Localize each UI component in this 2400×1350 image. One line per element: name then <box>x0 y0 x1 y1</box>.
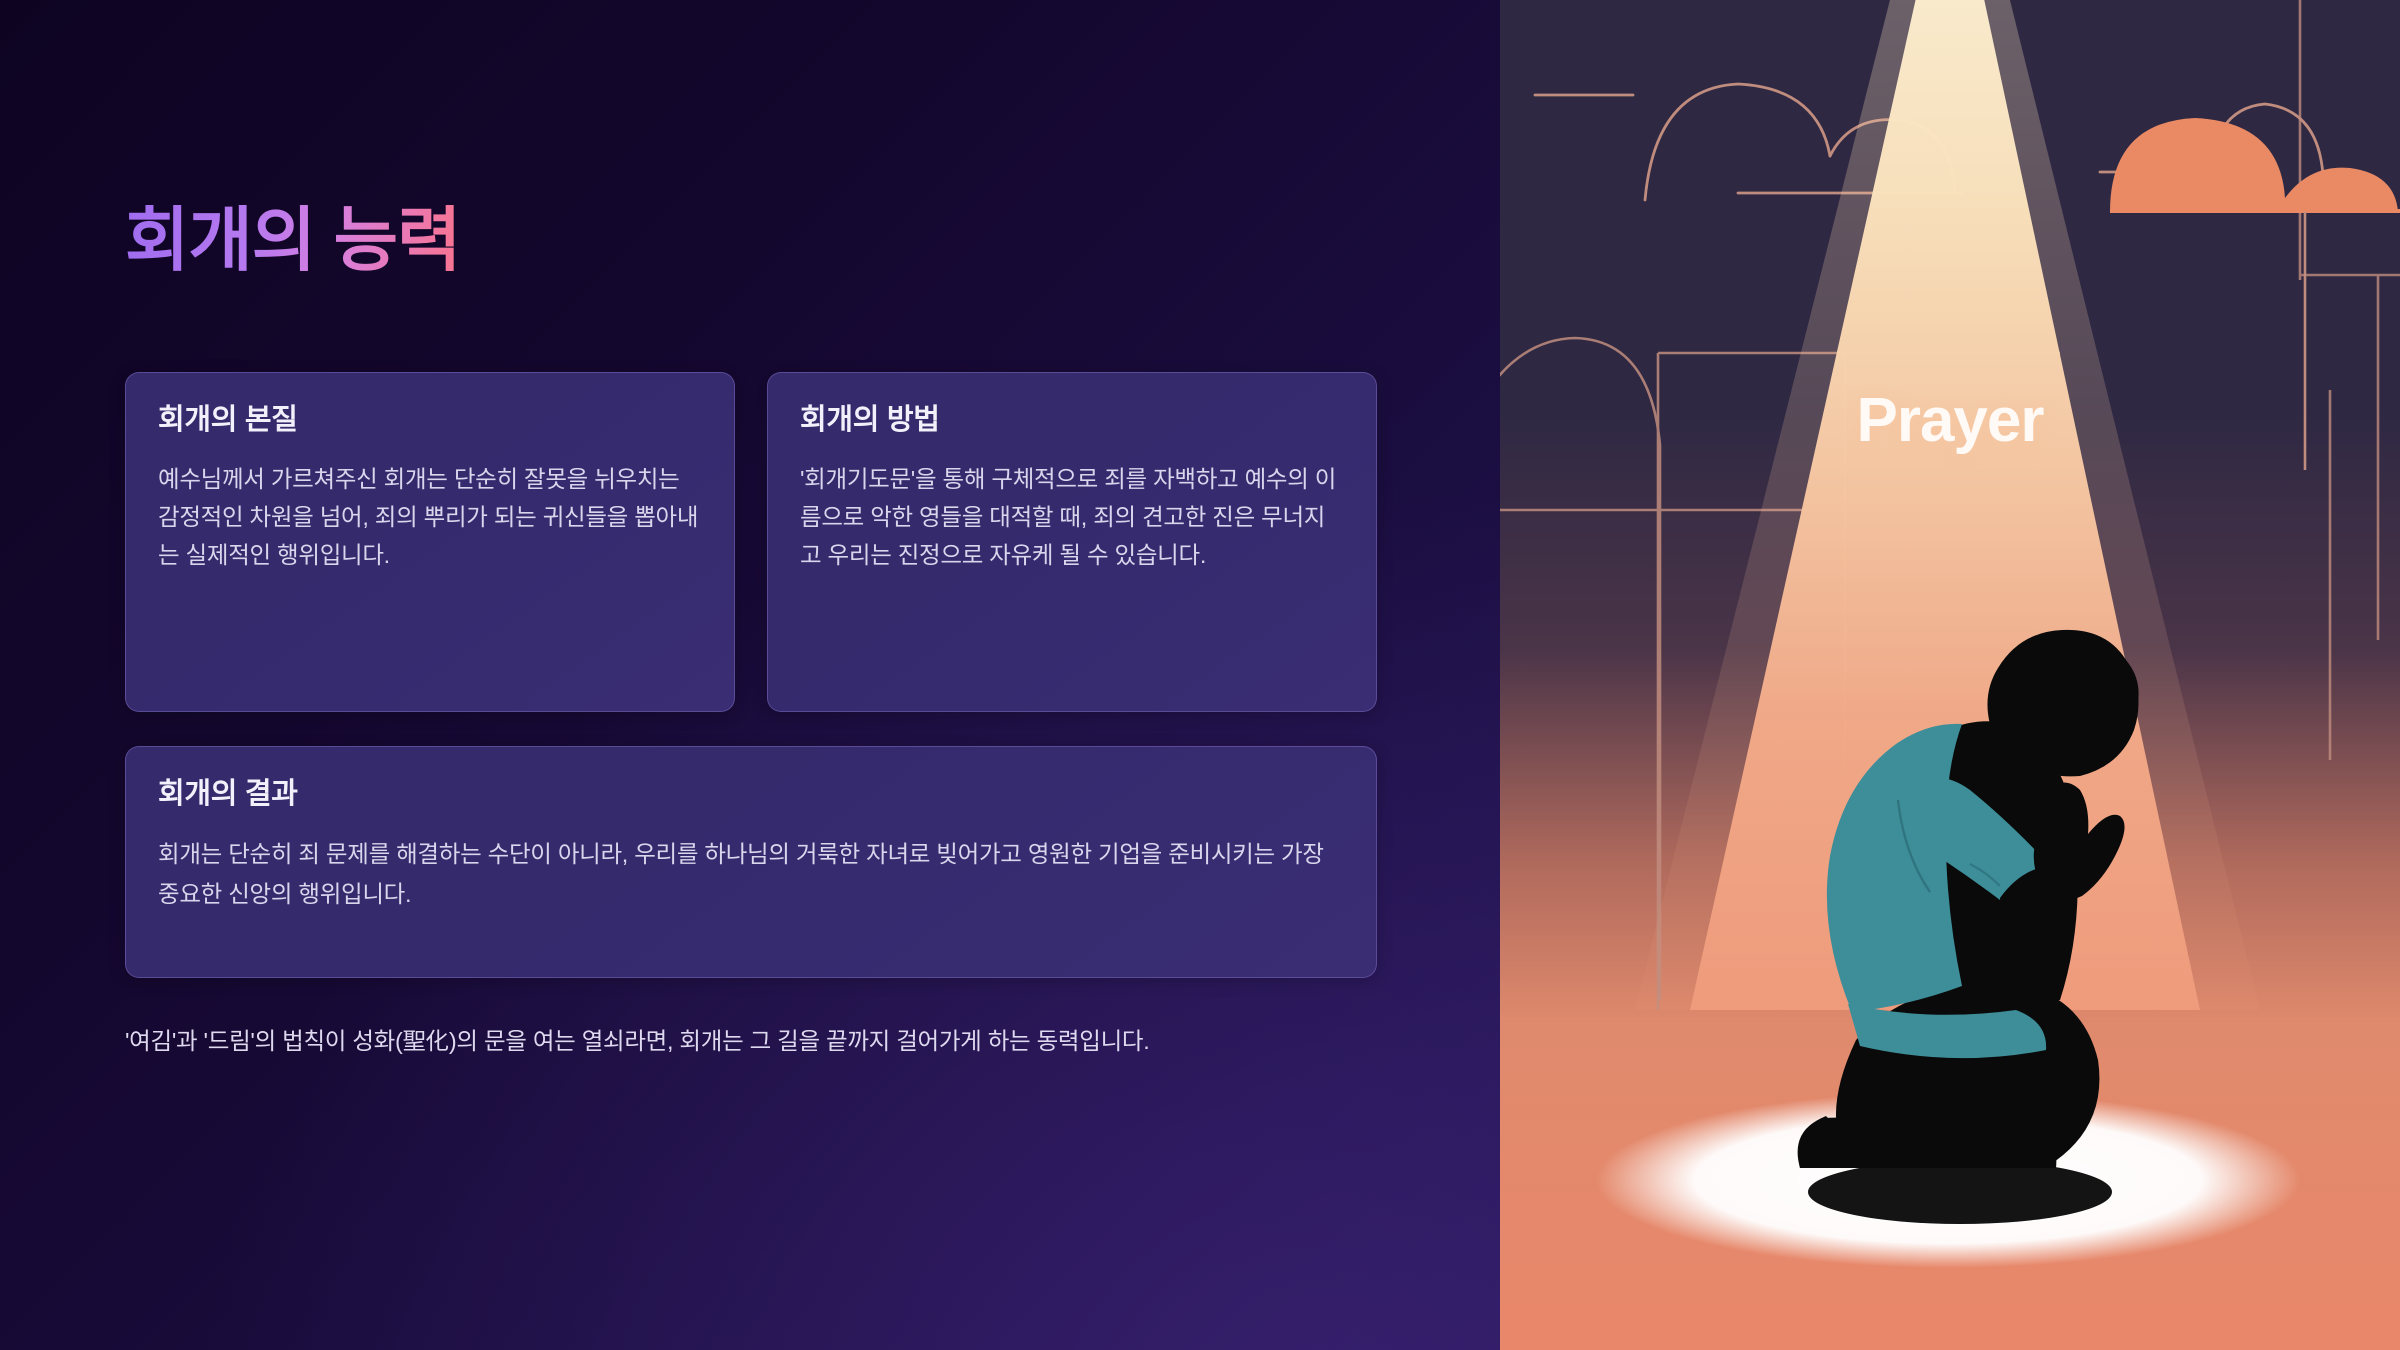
architecture-lines-right-icon <box>2300 0 2400 760</box>
prayer-illustration-panel: Prayer <box>1500 0 2400 1350</box>
card-body: 예수님께서 가르쳐주신 회개는 단순히 잘못을 뉘우치는 감정적인 차원을 넘어… <box>158 460 702 574</box>
footer-note: '여김'과 '드림'의 법칙이 성화(聖化)의 문을 여는 열쇠라면, 회개는 … <box>125 1022 1375 1060</box>
cloud-solid-right-icon <box>2110 118 2400 213</box>
content-inner: 회개의 능력 회개의 본질 예수님께서 가르쳐주신 회개는 단순히 잘못을 뉘우… <box>125 0 1380 1350</box>
card-body: '회개기도문'을 통해 구체적으로 죄를 자백하고 예수의 이름으로 악한 영들… <box>800 460 1344 574</box>
content-panel: 회개의 능력 회개의 본질 예수님께서 가르쳐주신 회개는 단순히 잘못을 뉘우… <box>0 0 1500 1350</box>
card-repentance-essence: 회개의 본질 예수님께서 가르쳐주신 회개는 단순히 잘못을 뉘우치는 감정적인… <box>125 372 735 712</box>
card-body: 회개는 단순히 죄 문제를 해결하는 수단이 아니라, 우리를 하나님의 거룩한… <box>158 834 1344 915</box>
card-repentance-method: 회개의 방법 '회개기도문'을 통해 구체적으로 죄를 자백하고 예수의 이름으… <box>767 372 1377 712</box>
prayer-illustration <box>1500 0 2400 1350</box>
page-title: 회개의 능력 <box>125 205 460 275</box>
card-repentance-result: 회개의 결과 회개는 단순히 죄 문제를 해결하는 수단이 아니라, 우리를 하… <box>125 746 1377 978</box>
figure-shadow <box>1808 1160 2112 1224</box>
slide-root: 회개의 능력 회개의 본질 예수님께서 가르쳐주신 회개는 단순히 잘못을 뉘우… <box>0 0 2400 1350</box>
card-title: 회개의 방법 <box>800 403 1344 438</box>
card-title: 회개의 본질 <box>158 403 702 438</box>
card-title: 회개의 결과 <box>158 777 1344 812</box>
